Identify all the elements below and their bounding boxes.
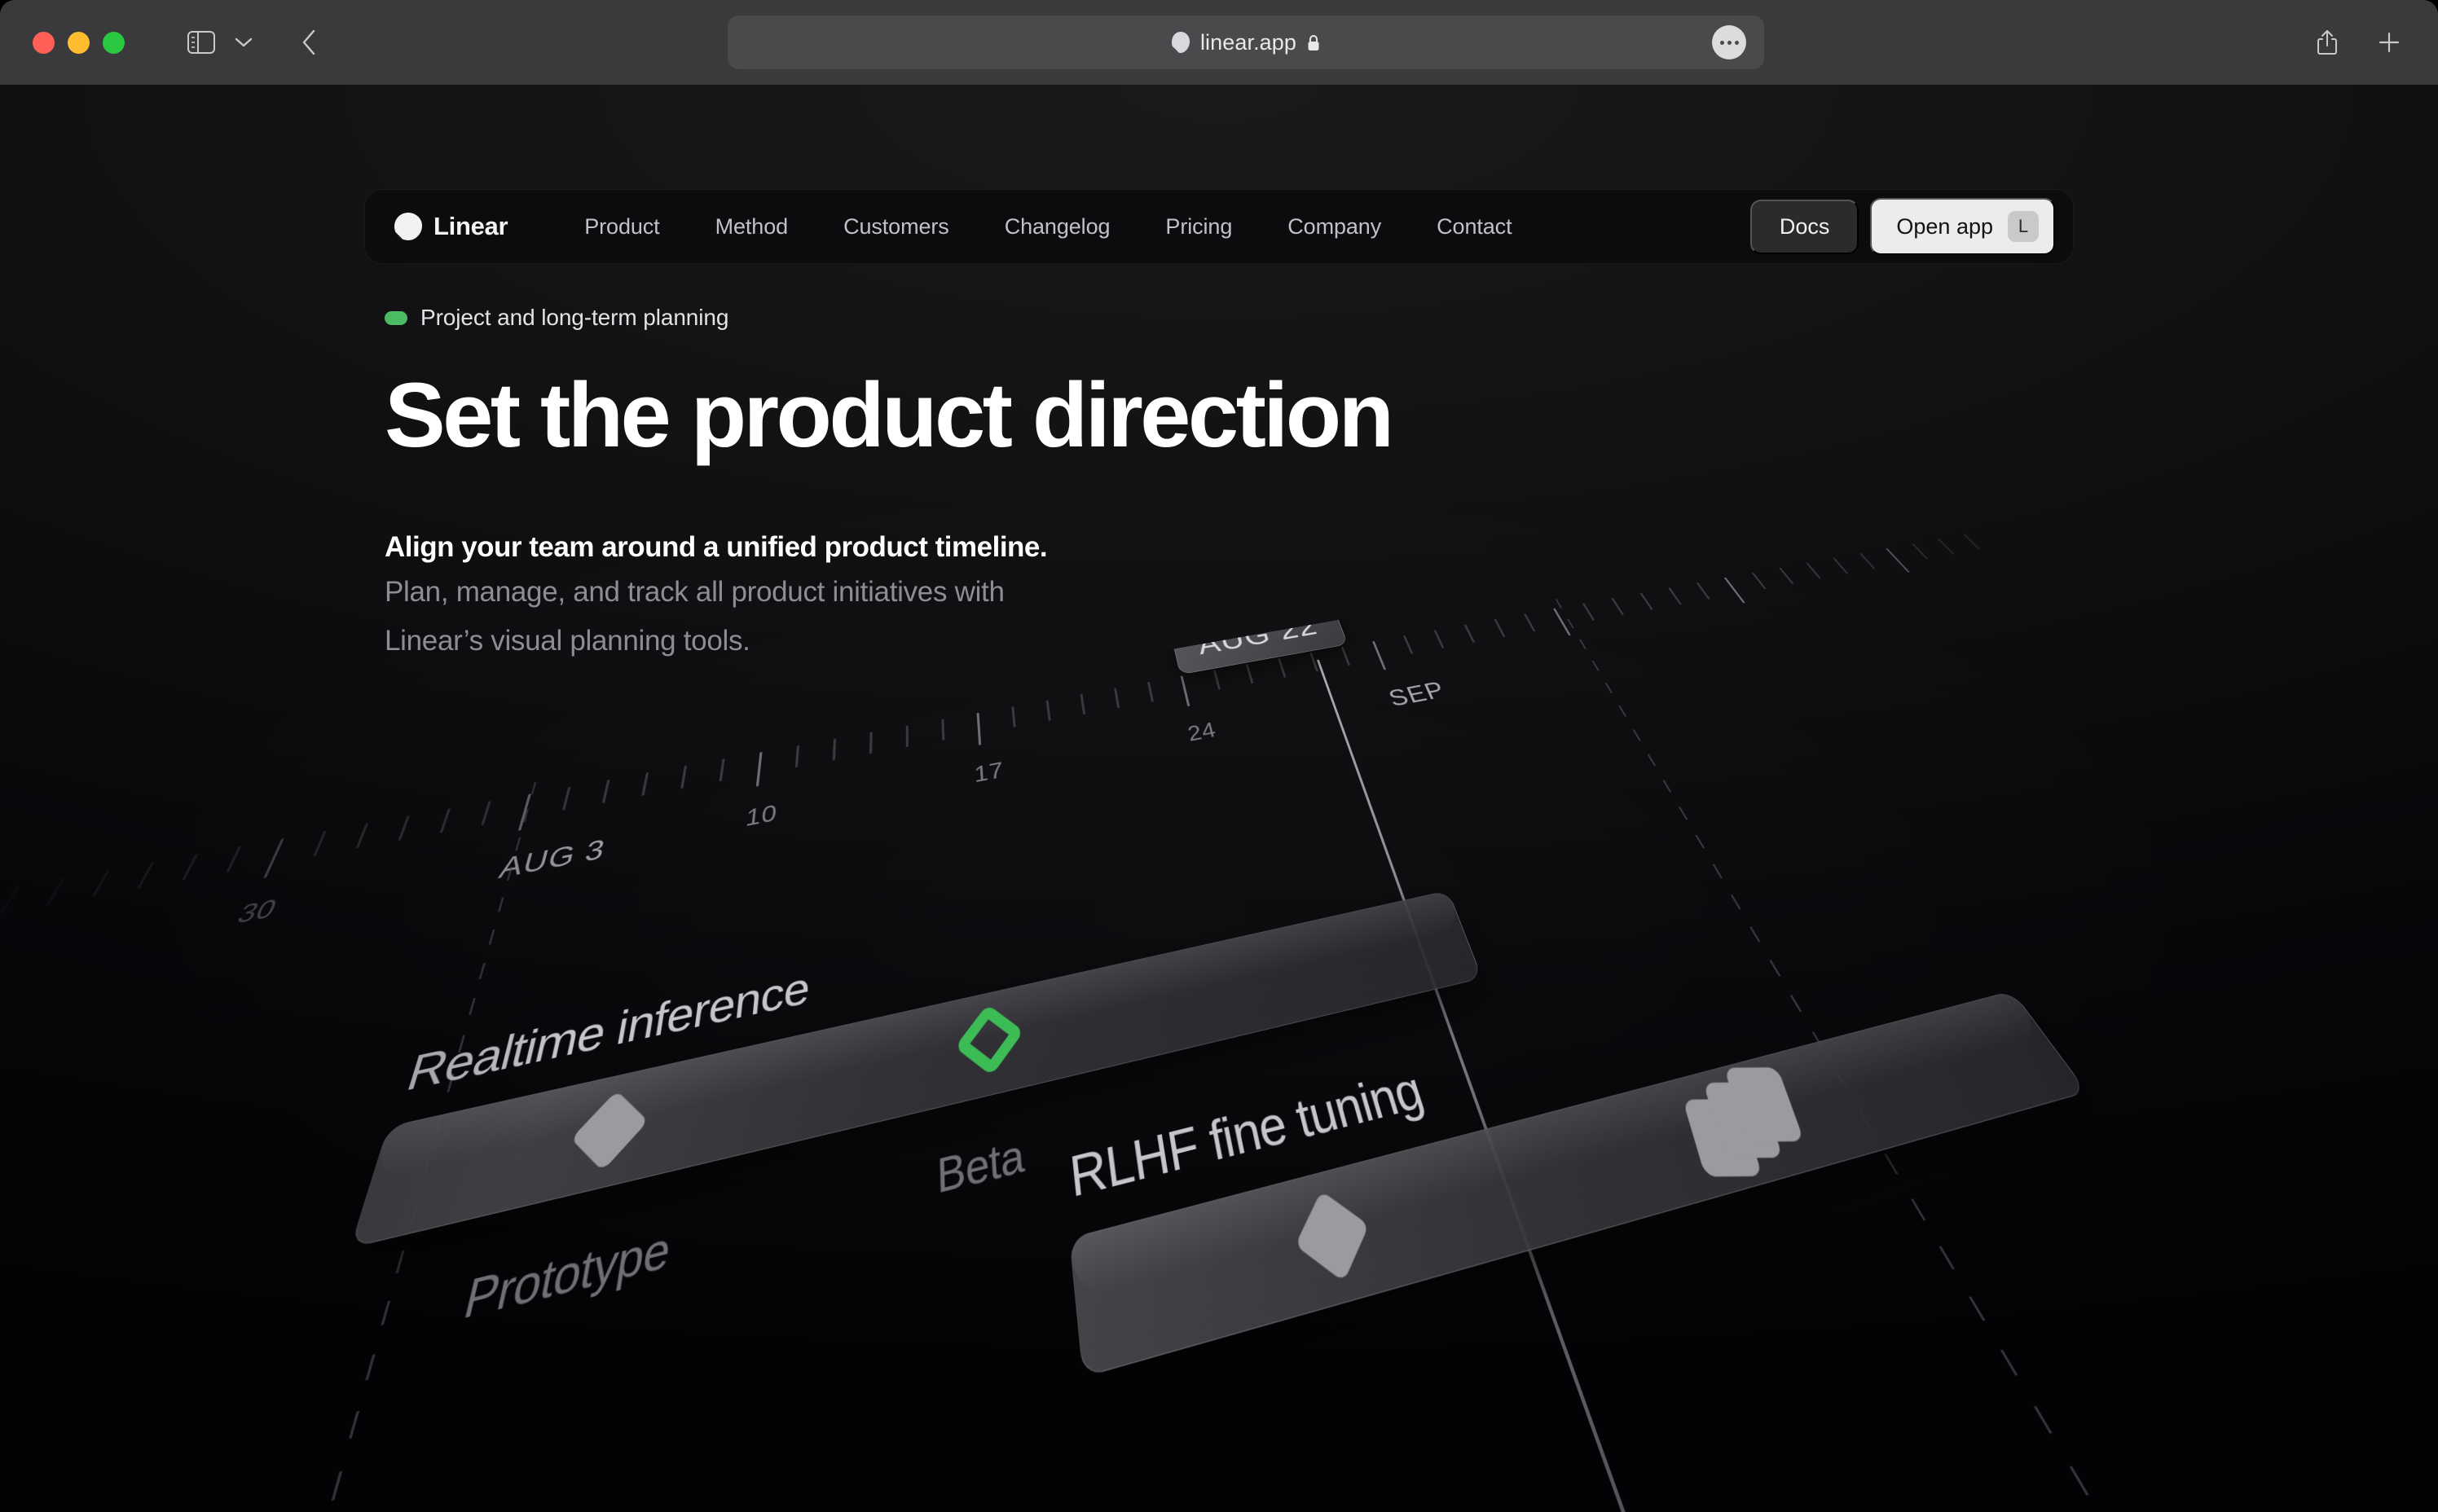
ruler-tick-minor (313, 831, 327, 857)
ruler-tick-minor (1806, 563, 1821, 579)
ruler-tick-minor (1080, 694, 1086, 715)
ruler-tick-label: 30 (232, 894, 282, 930)
ruler-tick-minor (91, 870, 110, 898)
ruler-tick-minor (1213, 670, 1221, 690)
hero-subtitle-line-1: Plan, manage, and track all product init… (385, 572, 1391, 613)
ruler-tick-minor (795, 745, 799, 768)
ruler-tick-minor (1114, 688, 1120, 708)
ruler-tick-minor (1278, 658, 1286, 678)
minimize-window-button[interactable] (68, 32, 90, 54)
hero-subtitle-line-2: Linear’s visual planning tools. (385, 621, 1391, 661)
docs-button[interactable]: Docs (1750, 200, 1859, 254)
timeline-graphic: 30AUG 3101724SEP AUG 22 Realtime inferen… (0, 85, 2438, 1512)
ruler-tick-minor (1963, 534, 1980, 550)
ruler-tick-minor (398, 815, 410, 841)
ruler-tick-major (1886, 548, 1910, 573)
browser-right-actions (2308, 0, 2438, 85)
ruler-tick-minor (1046, 700, 1051, 721)
ruler-tick-minor (226, 846, 241, 873)
address-bar-url: linear.app (1200, 30, 1296, 55)
address-bar-content: linear.app (1172, 30, 1320, 55)
site-navigation-bar: Linear Product Method Customers Changelo… (364, 189, 2074, 264)
nav-link-contact[interactable]: Contact (1409, 203, 1539, 251)
window-traffic-lights (33, 32, 125, 54)
ruler-tick-label: 10 (744, 800, 778, 832)
nav-link-method[interactable]: Method (688, 203, 816, 251)
ruler-tick-minor (1938, 538, 1955, 554)
ruler-tick-minor (1011, 706, 1015, 727)
open-app-label: Open app (1896, 214, 1993, 240)
nav-link-product[interactable]: Product (557, 203, 687, 251)
address-bar[interactable]: linear.app (728, 15, 1764, 69)
ruler-tick-minor (1611, 598, 1624, 616)
ruler-tick-minor (137, 862, 155, 889)
ruler-tick-minor (833, 738, 837, 761)
ruler-tick-minor (1494, 619, 1505, 637)
ruler-tick-minor (1833, 558, 1849, 574)
chevron-down-icon[interactable] (227, 24, 260, 60)
linear-logo-icon (1172, 32, 1190, 53)
ruler-tick-minor (1464, 624, 1476, 643)
browser-chrome: linear.app (0, 0, 2438, 85)
milestone-label: Beta (936, 1128, 1026, 1206)
ruler-tick-minor (941, 719, 944, 741)
ruler-tick-minor (562, 786, 571, 811)
chevron-left-icon[interactable] (291, 24, 327, 60)
status-dot-icon (385, 311, 407, 325)
ruler-tick-minor (641, 772, 649, 796)
timeline-bar-rlhf-fine-tuning[interactable] (1069, 991, 2088, 1378)
sidebar-icon[interactable] (183, 24, 219, 60)
share-icon[interactable] (2308, 23, 2347, 62)
nav-links: Product Method Customers Changelog Prici… (557, 203, 1539, 251)
ruler-tick-minor (1639, 592, 1653, 609)
ruler-tick-minor (355, 823, 368, 848)
ruler-tick-major (977, 713, 982, 745)
ruler-tick-major (1181, 675, 1190, 706)
brand-logo-link[interactable]: Linear (394, 212, 508, 241)
ruler-tick-major (263, 838, 284, 878)
nav-link-changelog[interactable]: Changelog (977, 203, 1138, 251)
page-title: Set the product direction (385, 370, 1391, 461)
ruler-tick-minor (439, 808, 451, 833)
ruler-tick-label: 17 (974, 758, 1005, 788)
ruler-tick-minor (680, 766, 687, 789)
lock-icon (1307, 34, 1320, 51)
open-app-button[interactable]: Open app L (1870, 198, 2055, 255)
nav-link-pricing[interactable]: Pricing (1138, 203, 1260, 251)
ruler-tick-minor (869, 732, 873, 754)
linear-logo-icon (394, 213, 422, 240)
milestone-label: Prototype (458, 1220, 674, 1334)
ruler-tick-minor (1696, 582, 1710, 600)
ruler-tick-minor (0, 886, 20, 915)
ruler-tick-minor (481, 801, 491, 825)
page-viewport: 30AUG 3101724SEP AUG 22 Realtime inferen… (0, 85, 2438, 1512)
ruler-tick-minor (1668, 587, 1682, 604)
ruler-tick-minor (1147, 682, 1154, 702)
nav-actions: Docs Open app L (1750, 198, 2055, 255)
hero-eyebrow-text: Project and long-term planning (420, 305, 728, 331)
ruler-tick-minor (1779, 568, 1794, 584)
open-app-shortcut-badge: L (2008, 211, 2039, 242)
nav-link-company[interactable]: Company (1260, 203, 1409, 251)
ruler-tick-minor (1859, 553, 1876, 569)
ruler-tick-minor (1912, 543, 1929, 560)
close-window-button[interactable] (33, 32, 55, 54)
ruler-tick-label: 24 (1186, 719, 1219, 747)
ruler-tick-minor (46, 878, 65, 906)
ruler-tick-minor (1246, 664, 1254, 683)
ruler-tick-minor (1582, 603, 1595, 621)
ruler-tick-minor (602, 780, 610, 803)
ruler-tick-label: SEP (1384, 676, 1449, 712)
ruler-tick-minor (1751, 573, 1766, 590)
ruler-tick-minor (1433, 630, 1444, 648)
ruler-tick-major (1724, 578, 1745, 604)
zoom-window-button[interactable] (103, 32, 125, 54)
ruler-tick-minor (1524, 613, 1536, 631)
ruler-tick-minor (906, 725, 909, 747)
nav-link-customers[interactable]: Customers (816, 203, 977, 251)
ellipsis-icon[interactable] (1712, 25, 1746, 59)
plus-icon[interactable] (2370, 23, 2409, 62)
hero-subtitle-strong: Align your team around a unified product… (385, 531, 1391, 564)
hero-section: Project and long-term planning Set the p… (385, 305, 1391, 661)
ruler-tick-minor (720, 758, 725, 781)
ruler-tick-minor (182, 854, 198, 881)
ruler-tick-minor (1403, 635, 1414, 654)
hero-eyebrow: Project and long-term planning (385, 305, 1391, 331)
ruler-tick-major (756, 752, 763, 787)
brand-name: Linear (433, 212, 508, 241)
